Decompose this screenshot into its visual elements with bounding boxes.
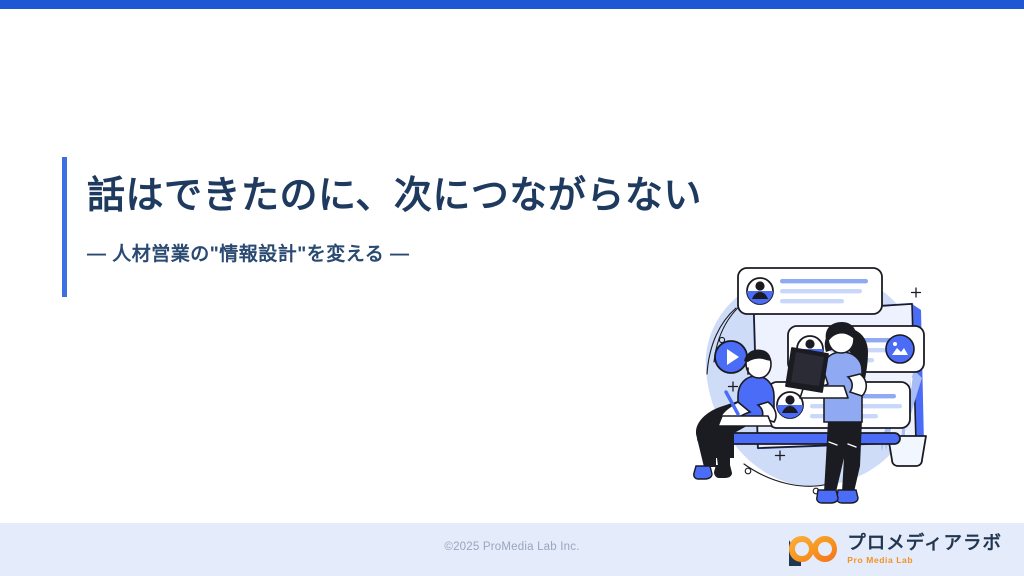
logo-wordmark: プロメディアラボ Pro Media Lab — [847, 533, 1002, 565]
page-title: 話はできたのに、次につながらない — [87, 171, 702, 222]
logo-name-en: Pro Media Lab — [847, 555, 1002, 565]
play-button-circle — [715, 341, 747, 373]
top-accent-bar — [0, 0, 1024, 9]
image-icon — [886, 335, 914, 363]
brand-logo: プロメディアラボ Pro Media Lab — [786, 530, 1002, 568]
hero-illustration — [676, 252, 944, 520]
logo-name-jp: プロメディアラボ — [847, 533, 1002, 552]
page-subtitle: — 人材営業の"情報設計"を変える — — [87, 242, 702, 269]
title-block: 話はできたのに、次につながらない — 人材営業の"情報設計"を変える — — [62, 157, 702, 297]
message-card-top — [738, 268, 882, 314]
slide-root: 話はできたのに、次につながらない — 人材営業の"情報設計"を変える — — [0, 0, 1024, 576]
title-spacer — [87, 269, 702, 297]
decor-circle-small-2 — [745, 468, 751, 474]
logo-mark-icon — [786, 530, 838, 568]
title-text-group: 話はできたのに、次につながらない — 人材営業の"情報設計"を変える — — [67, 157, 702, 297]
